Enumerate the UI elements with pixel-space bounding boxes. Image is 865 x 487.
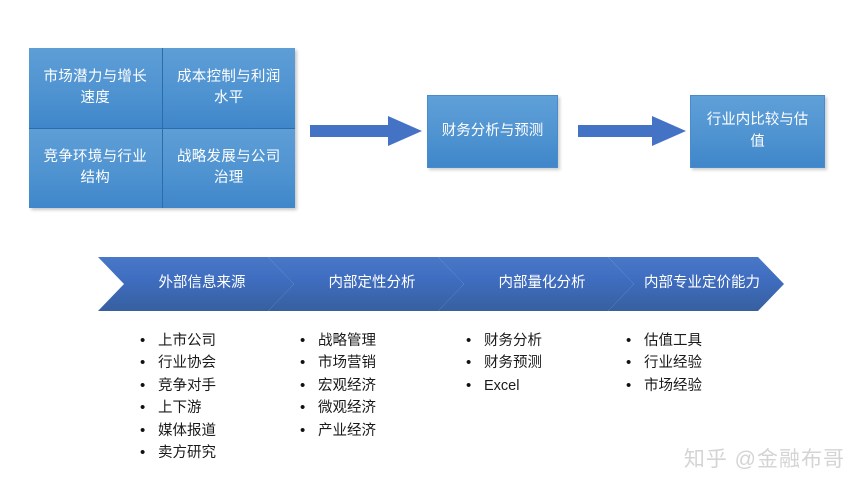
factor-matrix: 市场潜力与增长速度 成本控制与利润水平 竞争环境与行业结构 战略发展与公司治理 <box>29 48 295 208</box>
chevron-internal-pricing-capability: 内部专业定价能力 <box>608 257 784 311</box>
list-item: 产业经济 <box>296 420 376 442</box>
matrix-cell-label: 战略发展与公司治理 <box>173 147 286 189</box>
list-item: 媒体报道 <box>136 420 216 442</box>
list-item: 行业经验 <box>622 352 702 374</box>
list-item: 卖方研究 <box>136 442 216 464</box>
chevron-process-band: 外部信息来源 内部定性分析 内部量化分析 内部专业定价能力 <box>98 257 784 311</box>
list-item: 行业协会 <box>136 352 216 374</box>
list-item: 财务分析 <box>462 330 542 352</box>
list-item: 市场经验 <box>622 375 702 397</box>
chevron-internal-qualitative: 内部定性分析 <box>268 257 464 311</box>
chevron-internal-quantitative: 内部量化分析 <box>438 257 634 311</box>
matrix-cell-label: 市场潜力与增长速度 <box>39 67 152 109</box>
bullet-list-external-info: 上市公司 行业协会 竞争对手 上下游 媒体报道 卖方研究 <box>136 330 216 465</box>
matrix-cell-market-potential: 市场潜力与增长速度 <box>29 48 162 128</box>
chevron-label: 内部专业定价能力 <box>622 274 770 294</box>
arrow-right-icon <box>310 114 422 148</box>
list-item: 估值工具 <box>622 330 702 352</box>
process-box-label: 财务分析与预测 <box>442 121 544 142</box>
matrix-cell-cost-control: 成本控制与利润水平 <box>163 48 296 128</box>
matrix-cell-strategy-governance: 战略发展与公司治理 <box>163 129 296 209</box>
list-item: 宏观经济 <box>296 375 376 397</box>
process-box-financial-analysis: 财务分析与预测 <box>427 95 558 168</box>
bullet-list-internal-quantitative: 财务分析 财务预测 Excel <box>462 330 542 397</box>
arrow-right-icon <box>578 114 686 148</box>
list-item: 微观经济 <box>296 397 376 419</box>
list-item: 上市公司 <box>136 330 216 352</box>
list-item: 竞争对手 <box>136 375 216 397</box>
list-item: 战略管理 <box>296 330 376 352</box>
chevron-external-info: 外部信息来源 <box>98 257 294 311</box>
chevron-label: 内部定性分析 <box>307 274 426 294</box>
bullet-list-internal-qualitative: 战略管理 市场营销 宏观经济 微观经济 产业经济 <box>296 330 376 442</box>
matrix-cell-label: 竞争环境与行业结构 <box>39 147 152 189</box>
process-box-industry-valuation: 行业内比较与估值 <box>690 95 825 168</box>
list-item: 财务预测 <box>462 352 542 374</box>
bullet-list-internal-pricing: 估值工具 行业经验 市场经验 <box>622 330 702 397</box>
chevron-label: 外部信息来源 <box>137 274 256 294</box>
process-box-label: 行业内比较与估值 <box>701 110 814 152</box>
matrix-cell-label: 成本控制与利润水平 <box>173 67 286 109</box>
diagram-canvas: 市场潜力与增长速度 成本控制与利润水平 竞争环境与行业结构 战略发展与公司治理 … <box>0 0 865 487</box>
list-item: 市场营销 <box>296 352 376 374</box>
watermark: 知乎 @金融布哥 <box>684 443 845 473</box>
list-item: 上下游 <box>136 397 216 419</box>
list-item: Excel <box>462 375 542 397</box>
matrix-cell-competition: 竞争环境与行业结构 <box>29 129 162 209</box>
chevron-label: 内部量化分析 <box>477 274 596 294</box>
